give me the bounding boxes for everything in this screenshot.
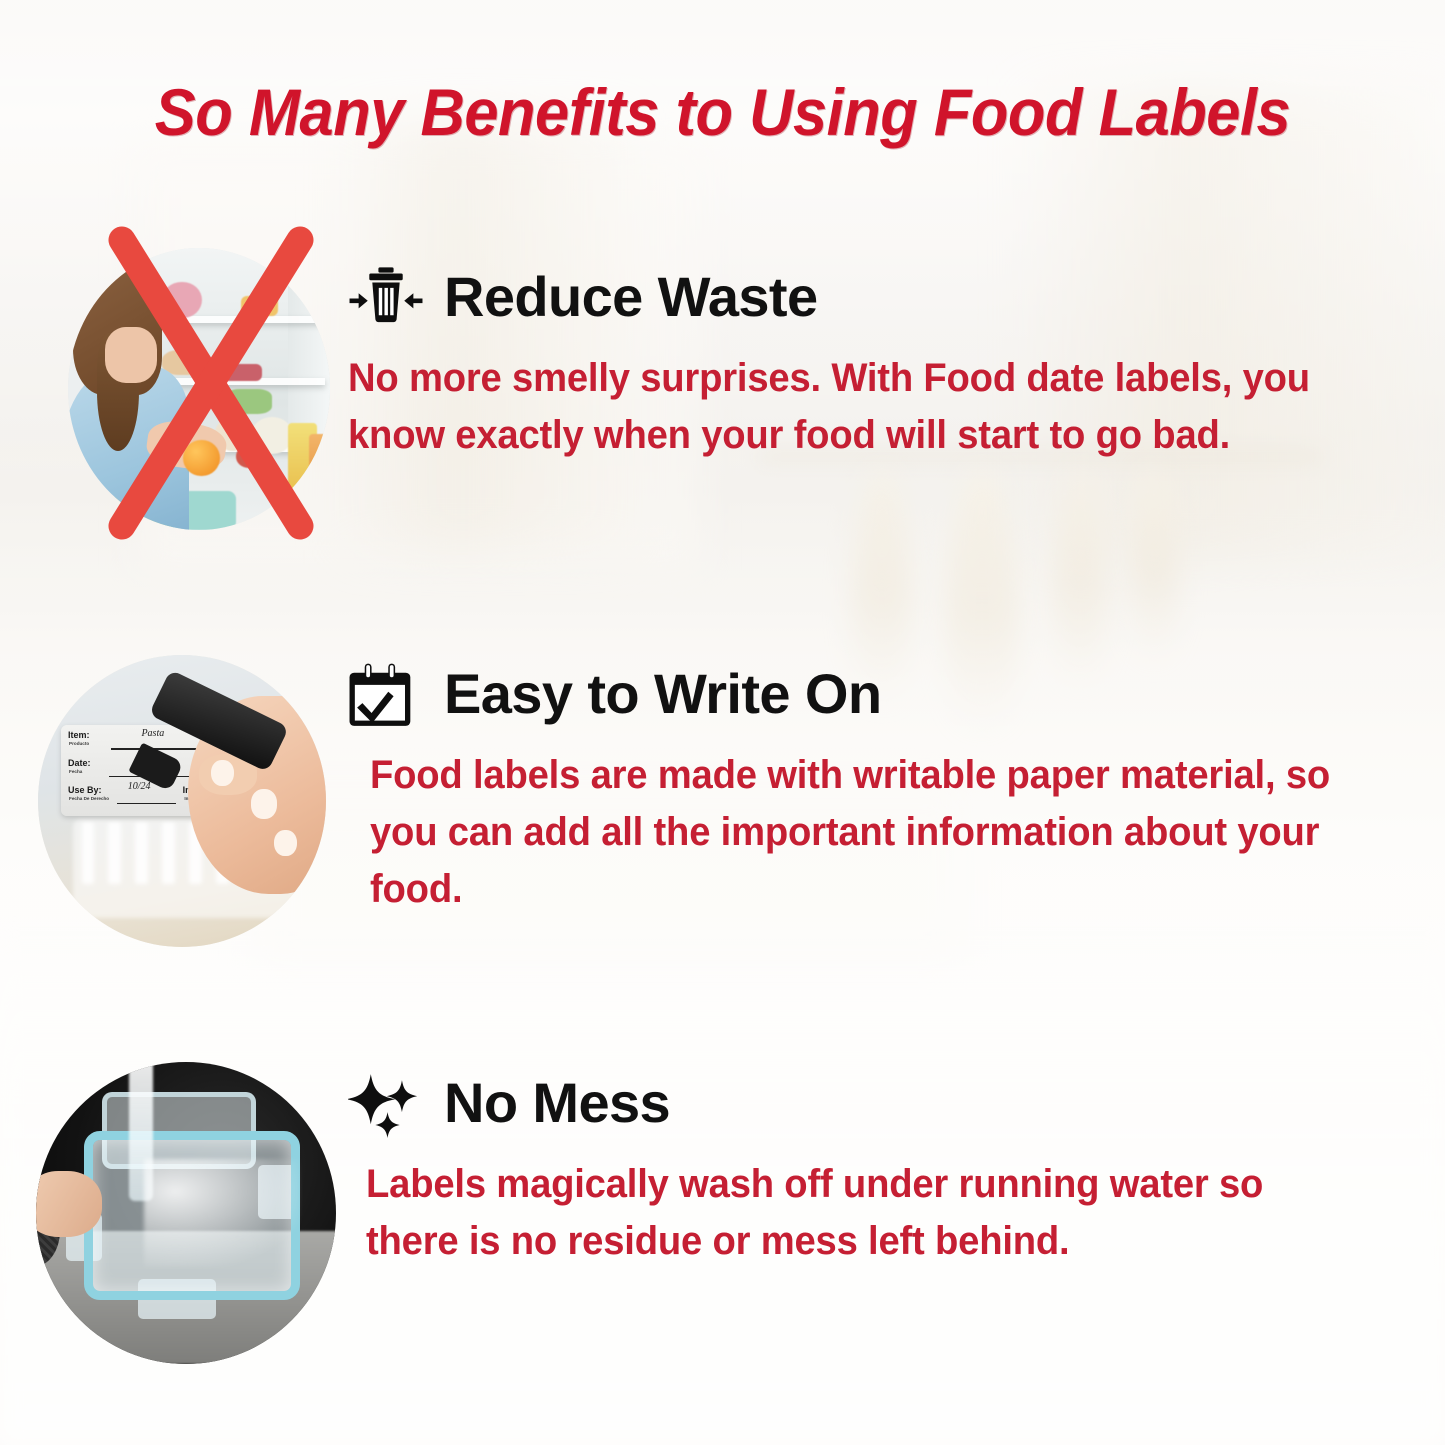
label-field-key: Item:: [68, 730, 90, 740]
label-field-value: 10/24: [128, 781, 151, 792]
benefit-heading-label: No Mess: [444, 1075, 670, 1131]
page-title: So Many Benefits to Using Food Labels: [51, 78, 1395, 147]
label-field-key: Date:: [68, 758, 91, 768]
fridge-food-cabbage: [162, 282, 201, 319]
fridge-food-orange: [183, 440, 220, 477]
label-field-subkey: Fecha De Derecho: [69, 796, 109, 801]
fingernail-2: [251, 789, 277, 818]
benefit-row-no-mess: No Mess Labels magically wash off under …: [0, 1050, 1445, 1380]
benefit-heading-label: Reduce Waste: [444, 269, 818, 325]
fridge-food-cheese: [241, 296, 278, 316]
label-field-subkey: Fecha: [69, 769, 82, 774]
benefit-text-no-mess: No Mess Labels magically wash off under …: [348, 1064, 1408, 1270]
fridge-food-meat: [204, 364, 262, 381]
calendar-check-icon: [348, 656, 424, 732]
benefit-heading-row: Reduce Waste: [348, 258, 1408, 336]
benefit-heading-row: No Mess: [348, 1064, 1408, 1142]
rack-slot: [82, 822, 94, 884]
infographic-page: So Many Benefits to Using Food Labels: [0, 0, 1445, 1445]
rack-slot: [162, 822, 174, 884]
label-field-subkey: Producto: [69, 741, 89, 746]
trash-can-reduce-icon: [348, 259, 424, 335]
benefit-row-reduce-waste: Reduce Waste No more smelly surprises. W…: [0, 240, 1445, 540]
benefit-body-text: Food labels are made with writable paper…: [370, 747, 1361, 917]
hand-writing-on-food-label-with-marker-photo: Item: Producto Pasta Date: Fecha 10/04 U…: [38, 655, 326, 947]
fridge-bottle-orange: [309, 434, 330, 507]
rack-slot: [108, 822, 120, 884]
benefit-text-easy-to-write-on: Easy to Write On Food labels are made wi…: [348, 655, 1408, 917]
label-field-key: Use By:: [68, 785, 102, 795]
benefit-row-easy-to-write-on: Item: Producto Pasta Date: Fecha 10/04 U…: [0, 645, 1445, 955]
sparkles-icon: [348, 1065, 424, 1141]
benefit-body-text: Labels magically wash off under running …: [366, 1156, 1361, 1270]
fridge-interior: [68, 248, 330, 530]
benefit-heading-label: Easy to Write On: [444, 666, 881, 722]
woman-smelling-spoiled-food-in-fridge-photo: [68, 248, 330, 530]
fingernail-1: [211, 760, 234, 786]
fridge-food-veg-green: [225, 389, 272, 414]
woman-hand-pinching-nose: [105, 327, 157, 383]
water-splash: [144, 1159, 300, 1268]
fridge-food-tomato: [236, 445, 262, 468]
benefit-text-reduce-waste: Reduce Waste No more smelly surprises. W…: [348, 258, 1408, 464]
benefit-heading-row: Easy to Write On: [348, 655, 1408, 733]
benefit-body-text: No more smelly surprises. With Food date…: [348, 350, 1360, 464]
rack-slot: [135, 822, 147, 884]
label-field-value: Pasta: [141, 728, 164, 739]
food-container-lid-rinsed-under-running-water-photo: [36, 1062, 336, 1364]
label-field-rule: [117, 803, 175, 804]
fingernail-3: [274, 830, 297, 856]
hand-holding-lid: [36, 1171, 102, 1237]
